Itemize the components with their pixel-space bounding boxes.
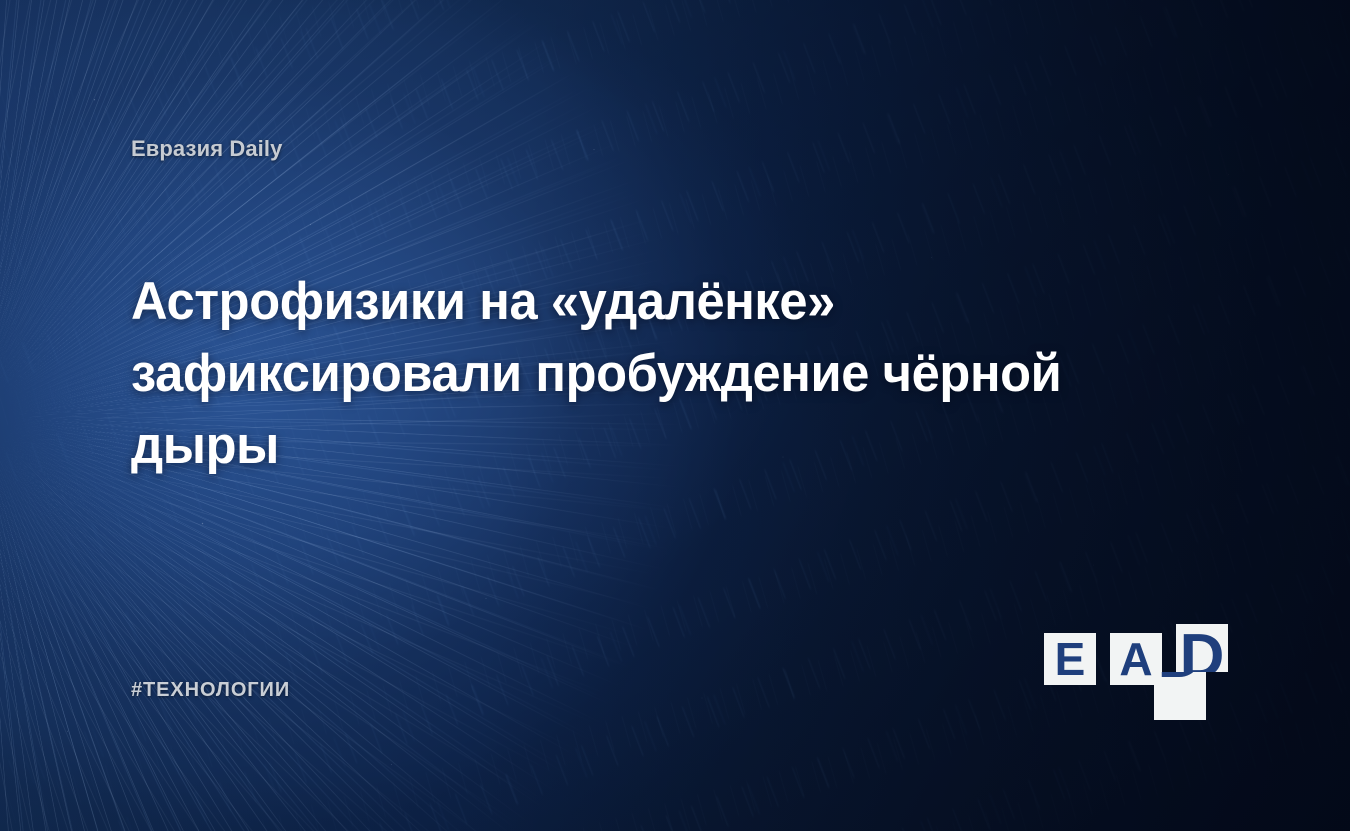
logo-letter-e: E (1055, 636, 1086, 682)
news-share-card: Евразия Daily Астрофизики на «удалёнке» … (0, 0, 1350, 831)
card-content: Евразия Daily Астрофизики на «удалёнке» … (0, 0, 1350, 831)
site-name: Евразия Daily (131, 136, 282, 162)
eadaily-logo[interactable]: E A D D (1044, 624, 1230, 720)
logo-tile-e: E (1044, 633, 1096, 685)
logo-letter-d-lower: D (1158, 672, 1203, 688)
logo-letter-a: A (1119, 636, 1152, 682)
category-hashtag[interactable]: #ТЕХНОЛОГИИ (131, 679, 290, 702)
logo-tile-d-lower: D (1154, 672, 1206, 720)
logo-letter-d-upper: D (1180, 626, 1225, 672)
headline: Астрофизики на «удалёнке» зафиксировали … (131, 266, 1096, 482)
logo-tile-d-upper: D (1176, 624, 1228, 672)
